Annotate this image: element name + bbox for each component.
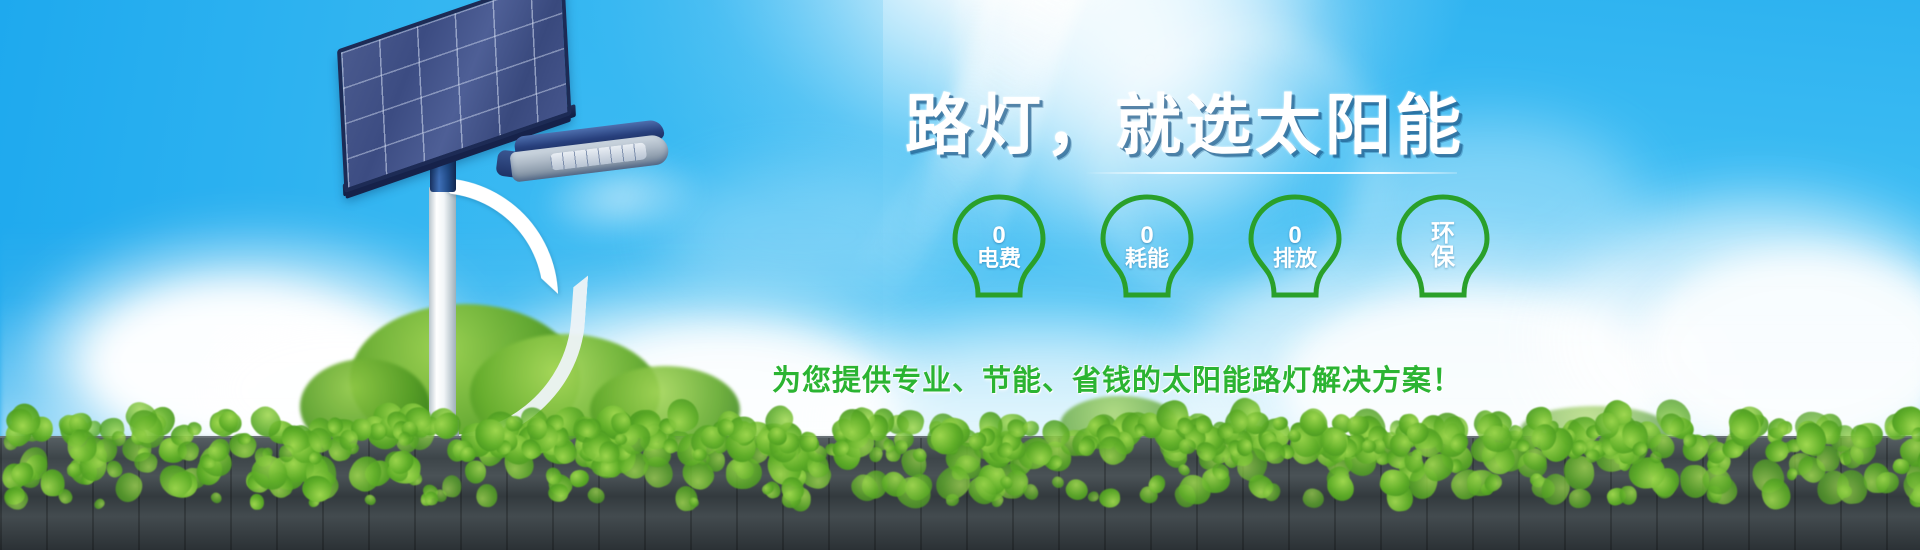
feature-badge-number: 0 bbox=[1273, 223, 1317, 248]
feature-badge-number: 0 bbox=[1125, 223, 1169, 248]
ivy-leaf bbox=[249, 494, 263, 510]
hero-banner: 路灯，就选太阳能 0 电费 0 耗能 bbox=[0, 0, 1920, 550]
feature-badge-word: 耗能 bbox=[1125, 248, 1169, 270]
ivy-leaf bbox=[67, 429, 96, 461]
feature-badge-word: 排放 bbox=[1273, 248, 1317, 270]
feature-badge: 0 电费 bbox=[947, 192, 1051, 300]
feature-badge-number: 0 bbox=[977, 223, 1021, 248]
ivy-leaf bbox=[475, 419, 504, 452]
feature-badge-text: 0 耗能 bbox=[1125, 221, 1169, 271]
feature-badge: 环 保 bbox=[1391, 192, 1495, 300]
feature-badge-text: 0 电费 bbox=[977, 221, 1021, 271]
title-divider bbox=[1085, 172, 1457, 174]
feature-badge: 0 耗能 bbox=[1095, 192, 1199, 300]
ivy-leaf bbox=[1264, 441, 1285, 464]
tagline: 为您提供专业、节能、省钱的太阳能路灯解决方案！ bbox=[772, 357, 1462, 399]
feature-badge-text: 环 保 bbox=[1431, 222, 1455, 271]
feature-badge-word: 电费 bbox=[977, 248, 1021, 270]
feature-badge-list: 0 电费 0 耗能 0 排放 bbox=[947, 192, 1565, 300]
feature-badge-word-bottom: 保 bbox=[1431, 246, 1455, 270]
banner-copy: 路灯，就选太阳能 0 电费 0 耗能 bbox=[905, 92, 1565, 300]
feature-badge: 0 排放 bbox=[1243, 192, 1347, 300]
page-title: 路灯，就选太阳能 bbox=[905, 92, 1565, 158]
ivy-leaf bbox=[1236, 439, 1252, 457]
feature-badge-word-top: 环 bbox=[1431, 222, 1455, 246]
feature-badge-text: 0 排放 bbox=[1273, 221, 1317, 271]
